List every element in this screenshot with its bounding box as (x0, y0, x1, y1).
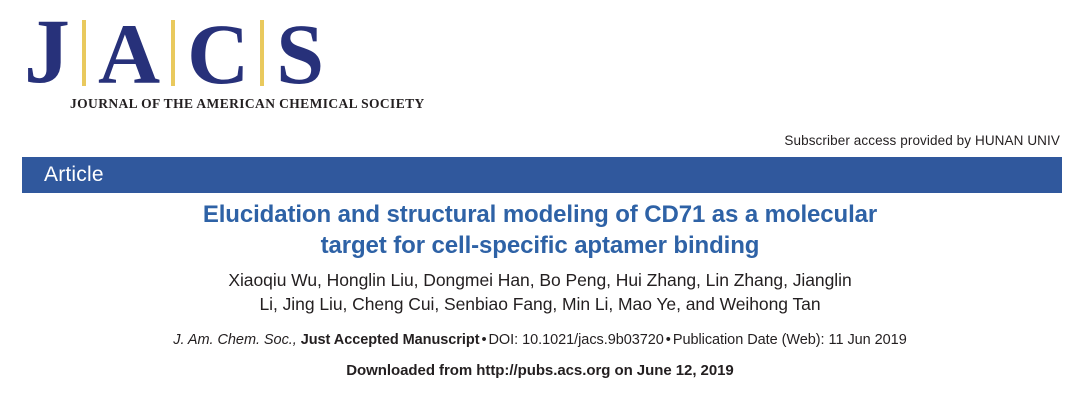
article-header-block: Elucidation and structural modeling of C… (0, 200, 1080, 379)
logo-letter-c: C (187, 15, 248, 94)
article-type-banner: Article (22, 157, 1062, 193)
journal-subtitle: JOURNAL OF THE AMERICAN CHEMICAL SOCIETY (22, 96, 392, 112)
citation-journal: J. Am. Chem. Soc., (173, 332, 296, 348)
jacs-logo: J A C S (22, 8, 392, 94)
logo-divider-1-icon (82, 20, 86, 86)
citation-doi: DOI: 10.1021/jacs.9b03720 (489, 332, 664, 348)
citation-pub-date: Publication Date (Web): 11 Jun 2019 (673, 332, 907, 348)
logo-letter-a: A (98, 15, 159, 94)
logo-letter-s: S (276, 15, 323, 94)
journal-masthead: J A C S JOURNAL OF THE AMERICAN CHEMICAL… (22, 8, 392, 126)
citation-separator-2: • (664, 332, 673, 348)
citation-status: Just Accepted Manuscript (301, 332, 480, 348)
logo-divider-2-icon (171, 20, 175, 86)
article-type-label: Article (44, 163, 104, 187)
author-list: Xiaoqiu Wu, Honglin Liu, Dongmei Han, Bo… (140, 269, 940, 316)
author-line: Li, Jing Liu, Cheng Cui, Senbiao Fang, M… (140, 293, 940, 316)
citation-separator-1: • (479, 332, 488, 348)
citation-line: J. Am. Chem. Soc., Just Accepted Manuscr… (0, 332, 1080, 348)
logo-divider-3-icon (260, 20, 264, 86)
downloaded-from-text: Downloaded from http://pubs.acs.org on J… (0, 362, 1080, 379)
logo-letter-j: J (24, 9, 69, 94)
author-line: Xiaoqiu Wu, Honglin Liu, Dongmei Han, Bo… (140, 269, 940, 292)
article-title: Elucidation and structural modeling of C… (180, 200, 900, 261)
subscriber-access-text: Subscriber access provided by HUNAN UNIV (784, 133, 1060, 148)
